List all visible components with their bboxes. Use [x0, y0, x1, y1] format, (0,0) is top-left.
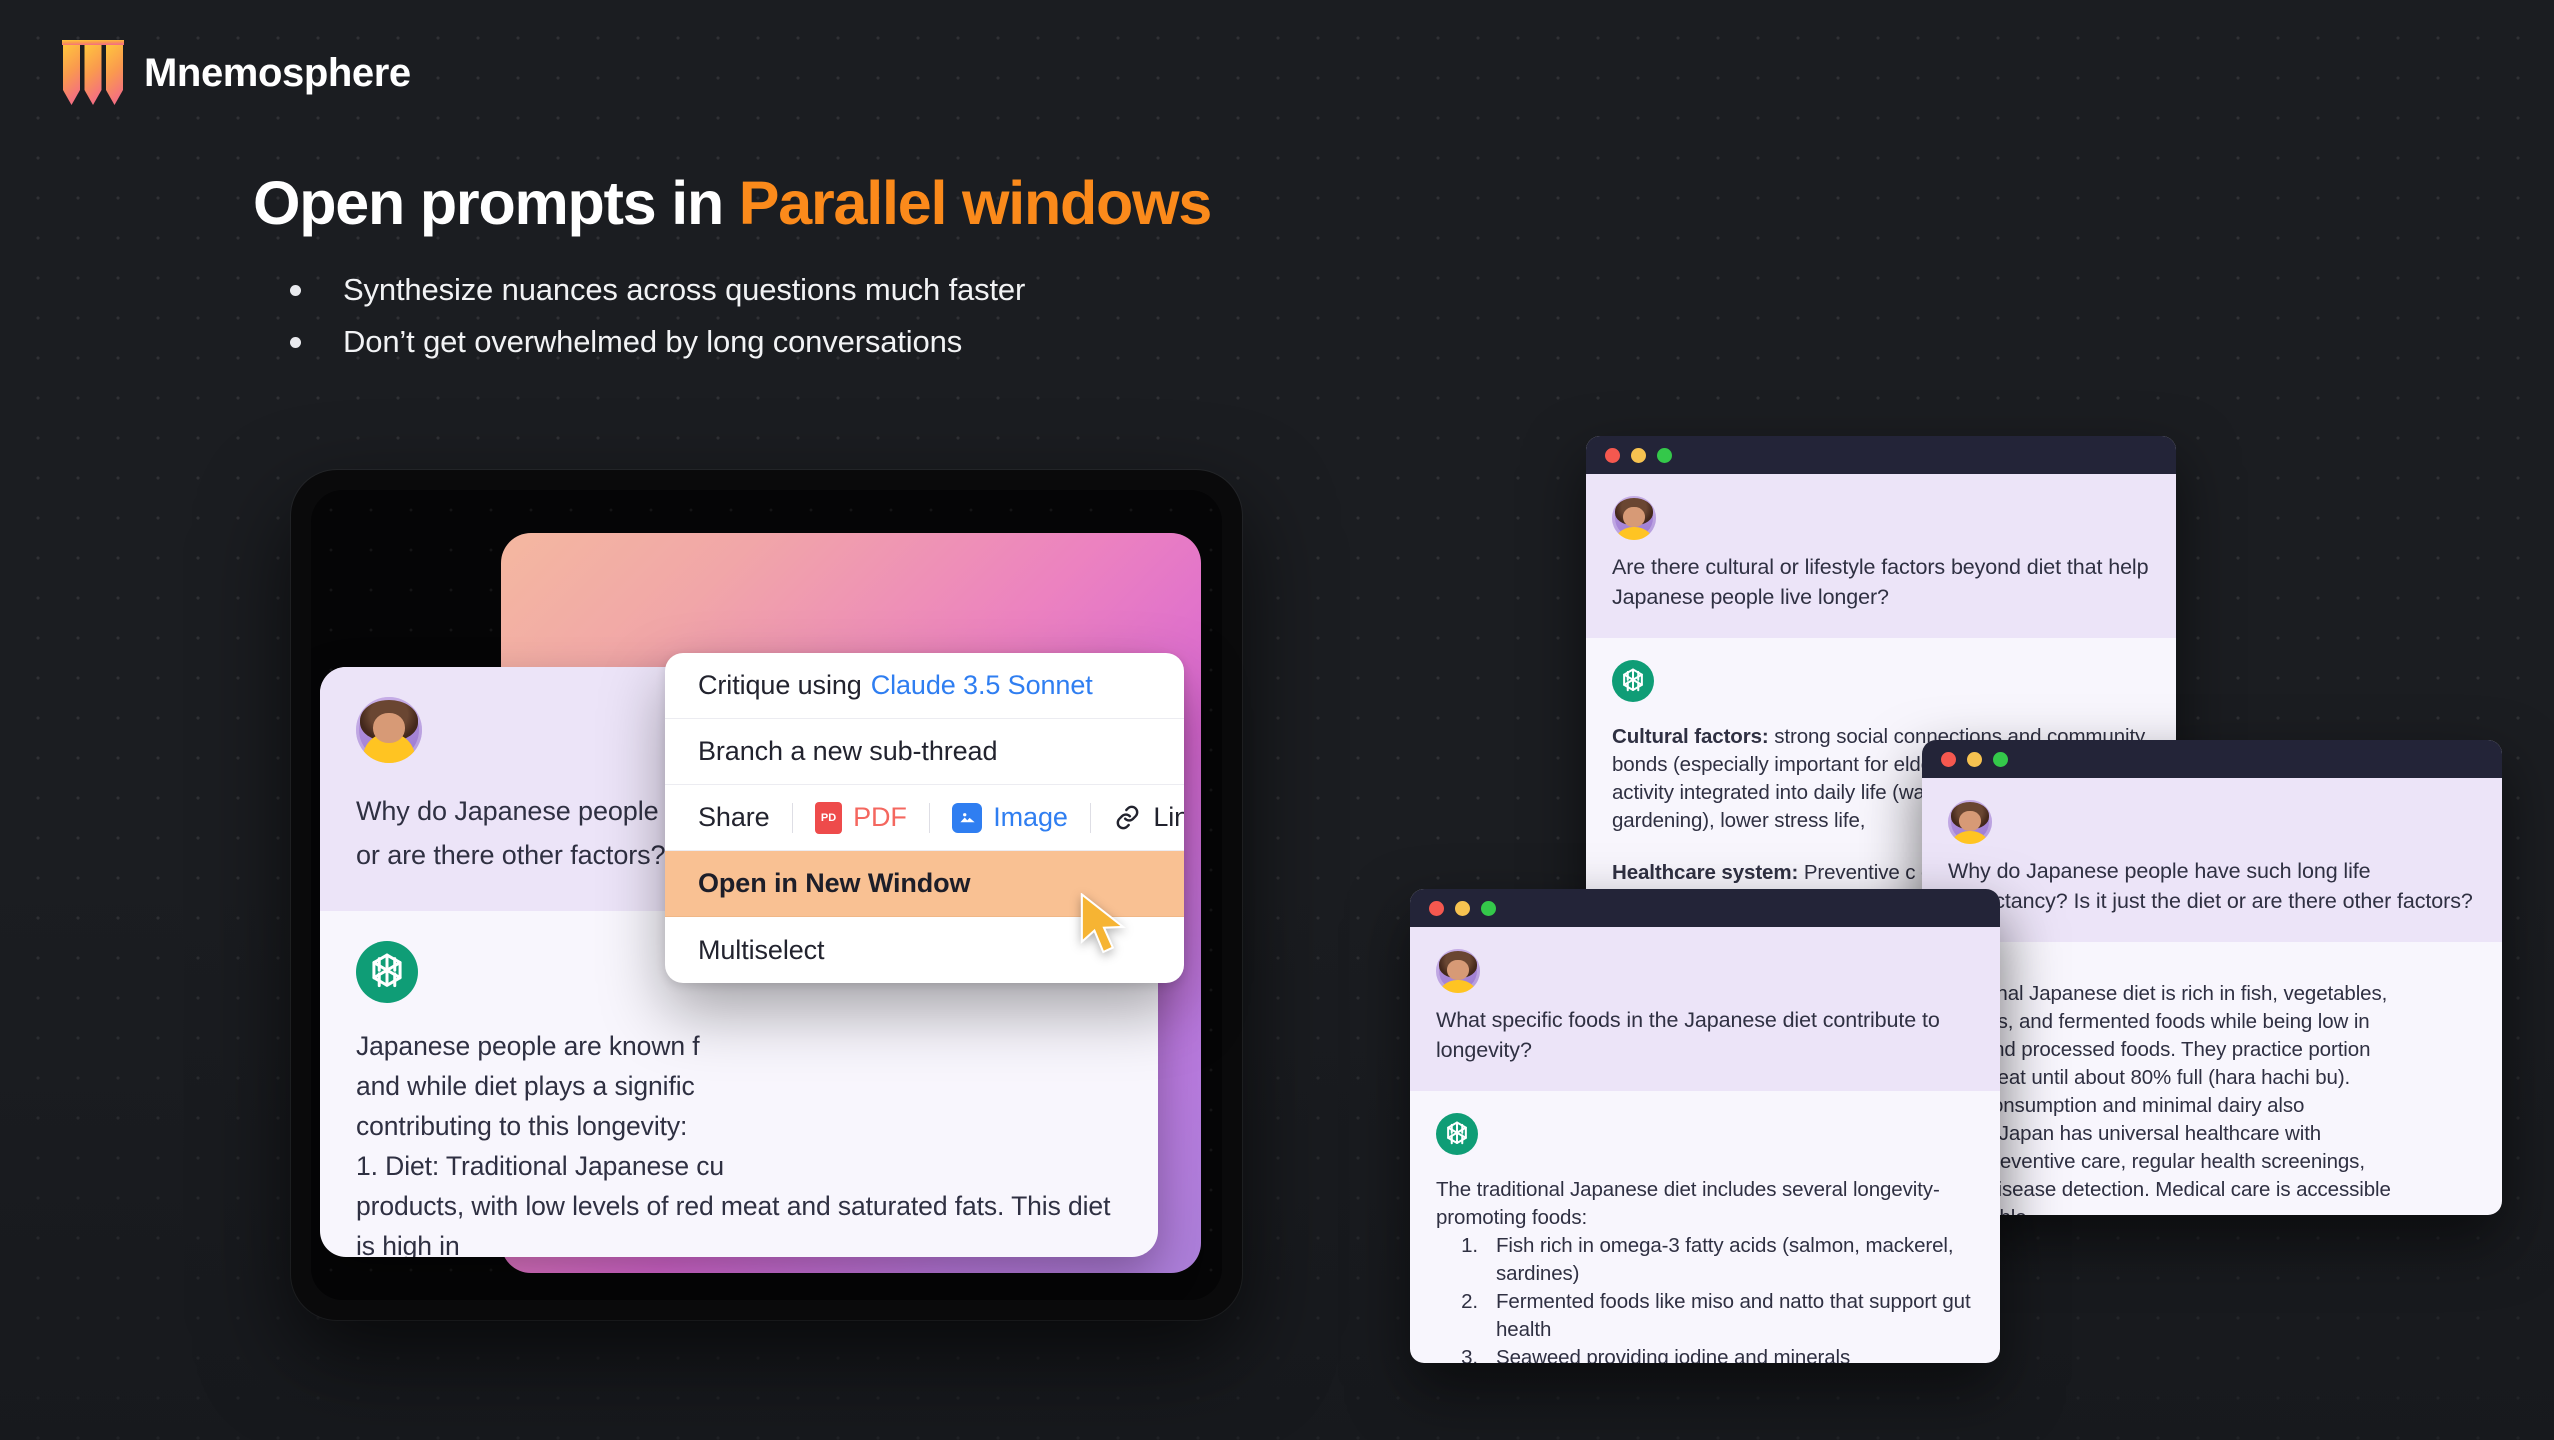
answer-line: eat and processed foods. They practice p…	[1948, 1038, 2370, 1061]
floating-window-specific-foods[interactable]: What specific foods in the Japanese diet…	[1410, 889, 2000, 1363]
menu-item-label: Critique using	[698, 670, 862, 701]
answer-line: 1. Diet: Traditional Japanese cu	[356, 1146, 1122, 1186]
close-icon[interactable]	[1605, 448, 1620, 463]
maximize-icon[interactable]	[1993, 752, 2008, 767]
divider	[929, 803, 931, 833]
answer-line: tea consumption and minimal dairy also	[1948, 1094, 2304, 1117]
avatar	[1436, 949, 1480, 993]
menu-item-branch-sub-thread[interactable]: Branch a new sub-thread	[665, 719, 1184, 785]
openai-logo-icon	[356, 941, 418, 1003]
close-icon[interactable]	[1941, 752, 1956, 767]
list-item: Don’t get overwhelmed by long conversati…	[290, 316, 1025, 368]
answer-intro: The traditional Japanese diet includes s…	[1436, 1176, 1974, 1232]
openai-logo-icon	[1436, 1113, 1478, 1155]
menu-item-label: Branch a new sub-thread	[698, 736, 997, 767]
answer-line: contributing to this longevity:	[356, 1106, 1122, 1146]
answer-line: products, with low levels of red meat an…	[356, 1186, 1122, 1257]
list-item: 3. Seaweed providing iodine and minerals	[1436, 1344, 1974, 1363]
feature-bullet-list: Synthesize nuances across questions much…	[290, 264, 1025, 368]
list-number: 2.	[1452, 1288, 1478, 1344]
answer-line: aditional Japanese diet is rich in fish,…	[1948, 982, 2387, 1005]
headline-part1: Open prompts in	[253, 169, 739, 237]
bullet-text: Don’t get overwhelmed by long conversati…	[343, 316, 962, 368]
menu-item-share: Share PD PDF Image	[665, 785, 1184, 851]
assistant-message-block: The traditional Japanese diet includes s…	[1410, 1091, 2000, 1363]
maximize-icon[interactable]	[1481, 901, 1496, 916]
link-chain-icon	[1113, 803, 1142, 832]
minimize-icon[interactable]	[1455, 901, 1470, 916]
menu-item-label: Open in New Window	[698, 868, 970, 899]
page-root: Mnemosphere Open prompts in Parallel win…	[0, 0, 2554, 1440]
list-number: 1.	[1452, 1232, 1478, 1288]
user-message-block: What specific foods in the Japanese diet…	[1410, 927, 2000, 1091]
share-option-link[interactable]: Link	[1113, 802, 1184, 833]
page-title: Open prompts in Parallel windows	[253, 168, 1211, 238]
maximize-icon[interactable]	[1657, 448, 1672, 463]
answer-label: Cultural factors:	[1612, 725, 1769, 748]
list-item: Synthesize nuances across questions much…	[290, 264, 1025, 316]
list-text: Fish rich in omega-3 fatty acids (salmon…	[1496, 1232, 1974, 1288]
brand-logo[interactable]: Mnemosphere	[62, 40, 411, 106]
menu-item-model-link[interactable]: Claude 3.5 Sonnet	[871, 670, 1093, 701]
share-label: Share	[698, 802, 770, 833]
openai-logo-icon	[1612, 660, 1654, 702]
user-question-text: What specific foods in the Japanese diet…	[1436, 1005, 1974, 1065]
bullet-dot-icon	[290, 337, 301, 348]
question-line: or are there other factors?	[356, 840, 665, 870]
assistant-answer-text: The traditional Japanese diet includes s…	[1436, 1176, 1974, 1363]
numbered-list: 1. Fish rich in omega-3 fatty acids (sal…	[1436, 1232, 1974, 1363]
answer-line: bute. Japan has universal healthcare wit…	[1948, 1122, 2321, 1145]
divider	[792, 803, 794, 833]
list-item: 1. Fish rich in omega-3 fatty acids (sal…	[1436, 1232, 1974, 1288]
assistant-answer-text: Japanese people are known f and while di…	[356, 1026, 1122, 1257]
list-text: Seaweed providing iodine and minerals	[1496, 1344, 1850, 1363]
window-titlebar[interactable]	[1586, 436, 2176, 474]
window-titlebar[interactable]	[1922, 740, 2502, 778]
assistant-answer-text: aditional Japanese diet is rich in fish,…	[1948, 980, 2476, 1215]
user-message-block: Why do Japanese people have such long li…	[1922, 778, 2502, 942]
answer-line: ent preventive care, regular health scre…	[1948, 1150, 2365, 1173]
list-item: 2. Fermented foods like miso and natto t…	[1436, 1288, 1974, 1344]
share-option-pdf[interactable]: PD PDF	[815, 802, 907, 834]
answer-line: l and eat until about 80% full (hara hac…	[1948, 1066, 2350, 1089]
avatar	[356, 697, 422, 763]
share-link-label: Link	[1153, 802, 1184, 833]
assistant-message-block: aditional Japanese diet is rich in fish,…	[1922, 942, 2502, 1215]
close-icon[interactable]	[1429, 901, 1444, 916]
divider	[1090, 803, 1092, 833]
minimize-icon[interactable]	[1631, 448, 1646, 463]
list-number: 3.	[1452, 1344, 1478, 1363]
answer-line: Japanese people are known f	[356, 1026, 1122, 1066]
avatar	[1948, 800, 1992, 844]
user-question-text: Are there cultural or lifestyle factors …	[1612, 552, 2150, 612]
image-icon	[952, 803, 982, 833]
share-image-label: Image	[993, 802, 1068, 833]
answer-line: arly disease detection. Medical care is …	[1948, 1178, 2391, 1201]
bullet-text: Synthesize nuances across questions much…	[343, 264, 1025, 316]
menu-item-critique[interactable]: Critique using Claude 3.5 Sonnet	[665, 653, 1184, 719]
question-line: Why do Japanese people hav	[356, 796, 709, 826]
answer-line: and while diet plays a signific	[356, 1066, 1122, 1106]
answer-line: oducts, and fermented foods while being …	[1948, 1010, 2370, 1033]
mouse-cursor-arrow-icon	[1078, 893, 1130, 955]
list-text: Fermented foods like miso and natto that…	[1496, 1288, 1974, 1344]
bullet-dot-icon	[290, 285, 301, 296]
share-pdf-label: PDF	[853, 802, 907, 833]
user-question-text: Why do Japanese people have such long li…	[1948, 856, 2476, 916]
window-titlebar[interactable]	[1410, 889, 2000, 927]
menu-item-label: Multiselect	[698, 935, 824, 966]
avatar	[1612, 496, 1656, 540]
floating-window-long-life[interactable]: Why do Japanese people have such long li…	[1922, 740, 2502, 1215]
answer-label: Healthcare system:	[1612, 861, 1798, 884]
mnemosphere-shield-logo-icon	[62, 40, 124, 106]
share-option-image[interactable]: Image	[952, 802, 1068, 833]
image-glyph	[958, 808, 977, 827]
pdf-file-icon: PD	[815, 802, 842, 834]
user-message-block: Are there cultural or lifestyle factors …	[1586, 474, 2176, 638]
minimize-icon[interactable]	[1967, 752, 1982, 767]
headline-accent: Parallel windows	[739, 169, 1211, 237]
brand-name: Mnemosphere	[144, 53, 411, 93]
